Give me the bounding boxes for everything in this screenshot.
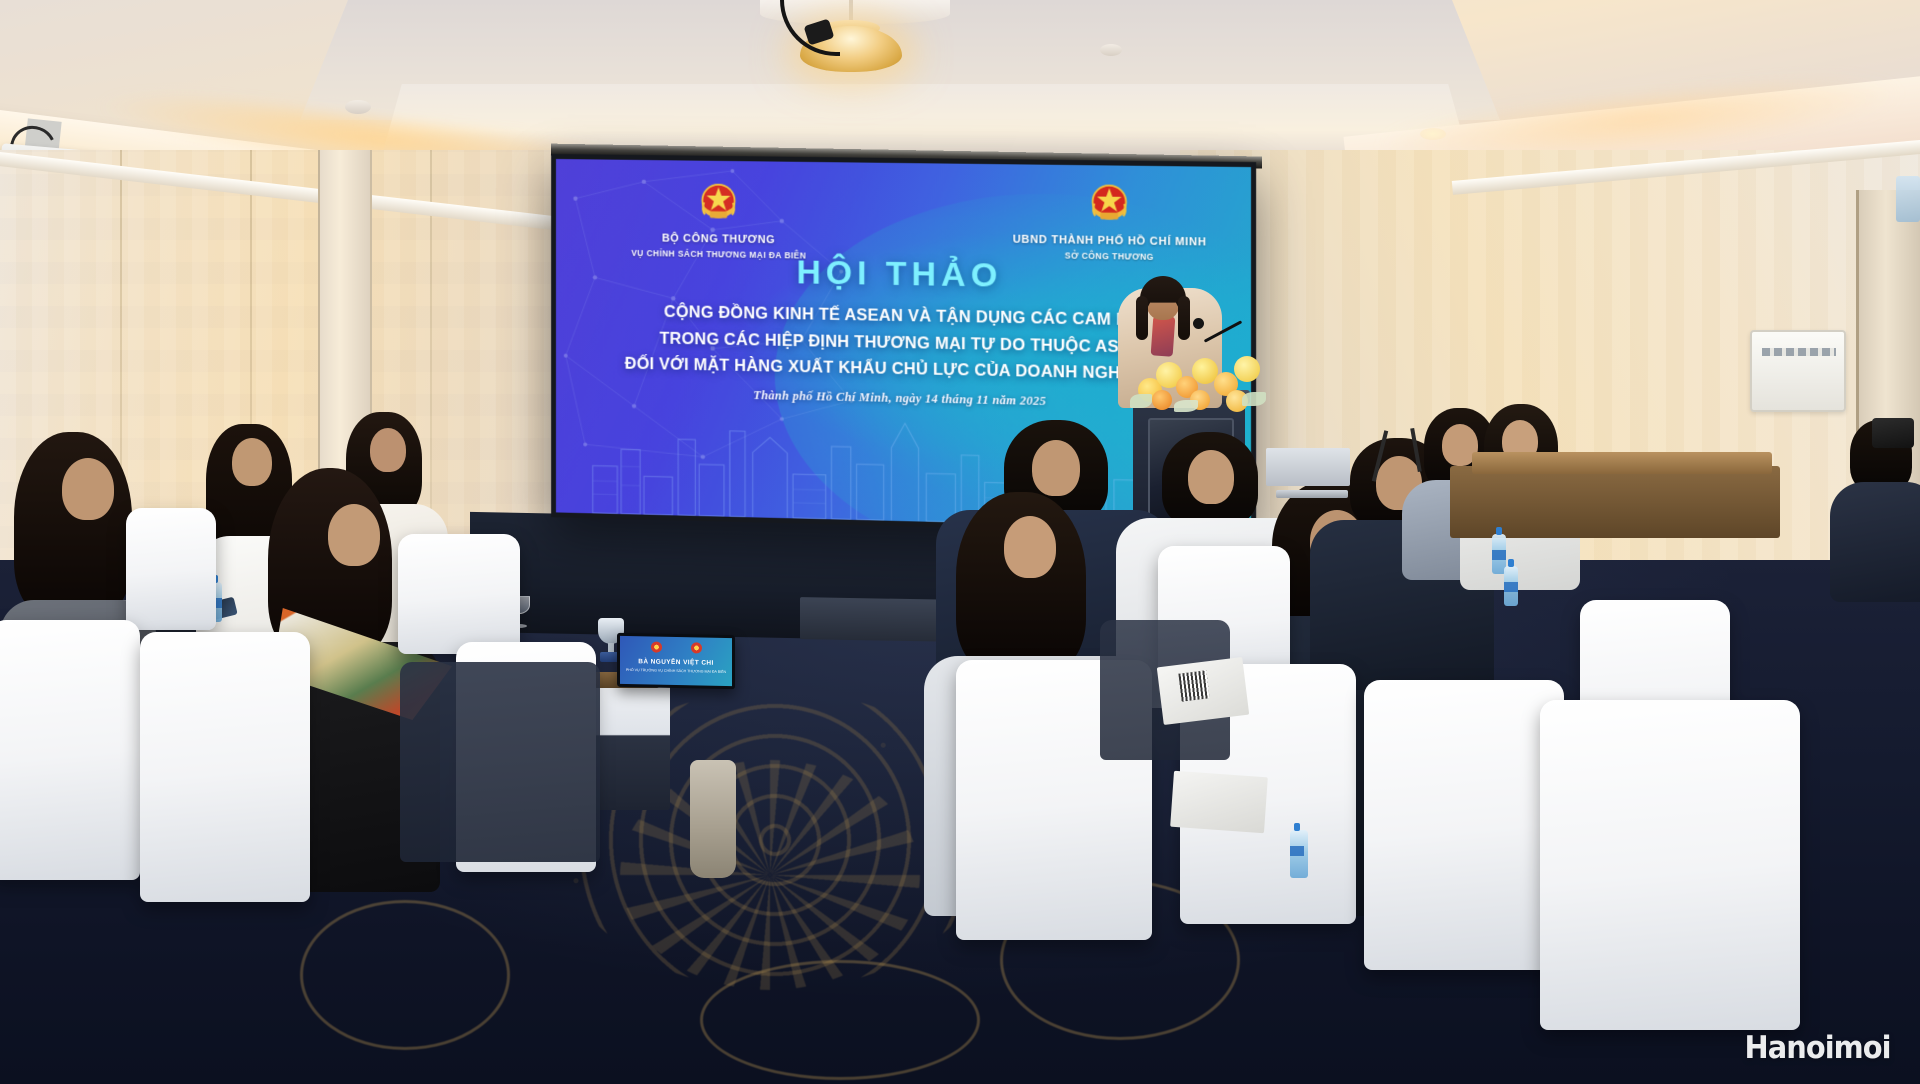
qr-code-icon bbox=[1178, 670, 1209, 701]
speaker-name-monitor: BÀ NGUYỄN VIỆT CHI PHÓ VỤ TRƯỞNG VỤ CHÍN… bbox=[617, 633, 735, 689]
audience-chair[interactable] bbox=[1540, 700, 1800, 1030]
name-monitor-speaker-role: PHÓ VỤ TRƯỞNG VỤ CHÍNH SÁCH THƯƠNG MẠI Đ… bbox=[624, 668, 728, 676]
org-right-name: UBND THÀNH PHỐ HỒ CHÍ MINH bbox=[983, 233, 1237, 251]
watermark-hanoimoi: Hanoimoi bbox=[1744, 1030, 1890, 1066]
smoke-detector-icon bbox=[345, 100, 371, 114]
video-camera-icon bbox=[1872, 418, 1914, 448]
downlight-icon bbox=[1420, 128, 1446, 140]
water-bottle bbox=[1504, 566, 1518, 606]
speaker-hair-side bbox=[1178, 296, 1190, 340]
vietnam-emblem-icon bbox=[1083, 177, 1136, 230]
emblem-icon bbox=[651, 641, 662, 652]
handout-paper[interactable] bbox=[1170, 771, 1268, 833]
wall-control-panel[interactable] bbox=[1750, 330, 1846, 412]
org-left-name: BỘ CÔNG THƯƠNG bbox=[611, 232, 828, 249]
table-edge bbox=[1472, 452, 1772, 474]
name-monitor-screen: BÀ NGUYỄN VIỆT CHI PHÓ VỤ TRƯỞNG VỤ CHÍN… bbox=[620, 636, 732, 686]
conference-photo-scene: BỘ CÔNG THƯƠNG VỤ CHÍNH SÁCH THƯƠNG MẠI … bbox=[0, 0, 1920, 1084]
audience-chair-dark[interactable] bbox=[400, 662, 600, 862]
audience-chair[interactable] bbox=[1364, 680, 1564, 970]
carpet-swirl bbox=[700, 960, 980, 1080]
podium-flower-arrangement bbox=[1130, 352, 1266, 416]
speaker-scarf bbox=[1151, 315, 1176, 356]
laptop[interactable] bbox=[1266, 448, 1350, 486]
emblem-icon bbox=[691, 642, 702, 653]
vietnam-emblem-icon bbox=[693, 176, 744, 228]
water-bottle bbox=[1290, 830, 1308, 878]
wall-light-strip bbox=[1896, 176, 1920, 222]
name-monitor-emblems bbox=[620, 641, 732, 654]
name-monitor-speaker-name: BÀ NGUYỄN VIỆT CHI bbox=[620, 658, 732, 667]
floor-vase bbox=[690, 760, 736, 878]
carpet-swirl bbox=[300, 900, 510, 1050]
laptop-base[interactable] bbox=[1276, 490, 1348, 498]
smoke-detector-icon bbox=[1100, 44, 1122, 56]
audience-chair[interactable] bbox=[140, 632, 310, 902]
slide-org-right: UBND THÀNH PHỐ HỒ CHÍ MINH SỞ CÔNG THƯƠN… bbox=[983, 176, 1237, 263]
audience-chair[interactable] bbox=[0, 620, 140, 880]
audience-chair[interactable] bbox=[398, 534, 520, 654]
microphone-icon bbox=[1193, 318, 1204, 329]
slide-org-left: BỘ CÔNG THƯƠNG VỤ CHÍNH SÁCH THƯƠNG MẠI … bbox=[611, 175, 828, 260]
audience-chair[interactable] bbox=[126, 508, 216, 630]
speaker-hair-side bbox=[1136, 296, 1148, 340]
